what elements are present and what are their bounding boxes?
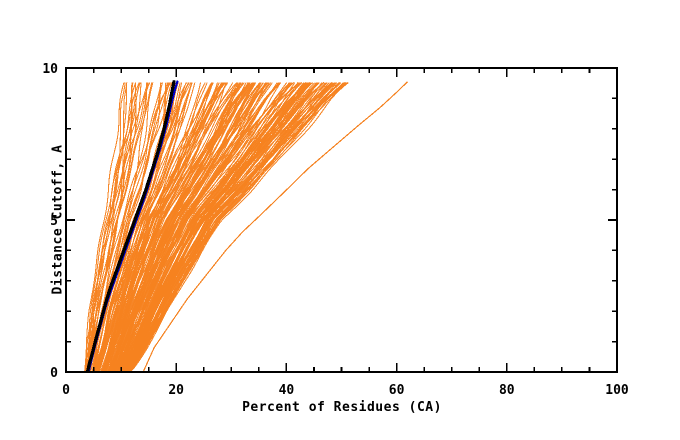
figure-background — [0, 0, 680, 440]
x-tick-label: 100 — [605, 383, 629, 398]
x-tick-label: 0 — [62, 383, 70, 398]
y-axis-label: Distance Cutoff, A — [51, 70, 66, 370]
x-axis-label: Percent of Residues (CA) — [66, 400, 618, 415]
x-tick-label: 80 — [499, 383, 515, 398]
figure-container: T0963 0204060801000510 Percent of Residu… — [0, 0, 680, 440]
x-tick-label: 60 — [389, 383, 405, 398]
x-tick-label: 40 — [279, 383, 295, 398]
plot-canvas: 0204060801000510 — [0, 0, 680, 440]
x-tick-label: 20 — [168, 383, 184, 398]
